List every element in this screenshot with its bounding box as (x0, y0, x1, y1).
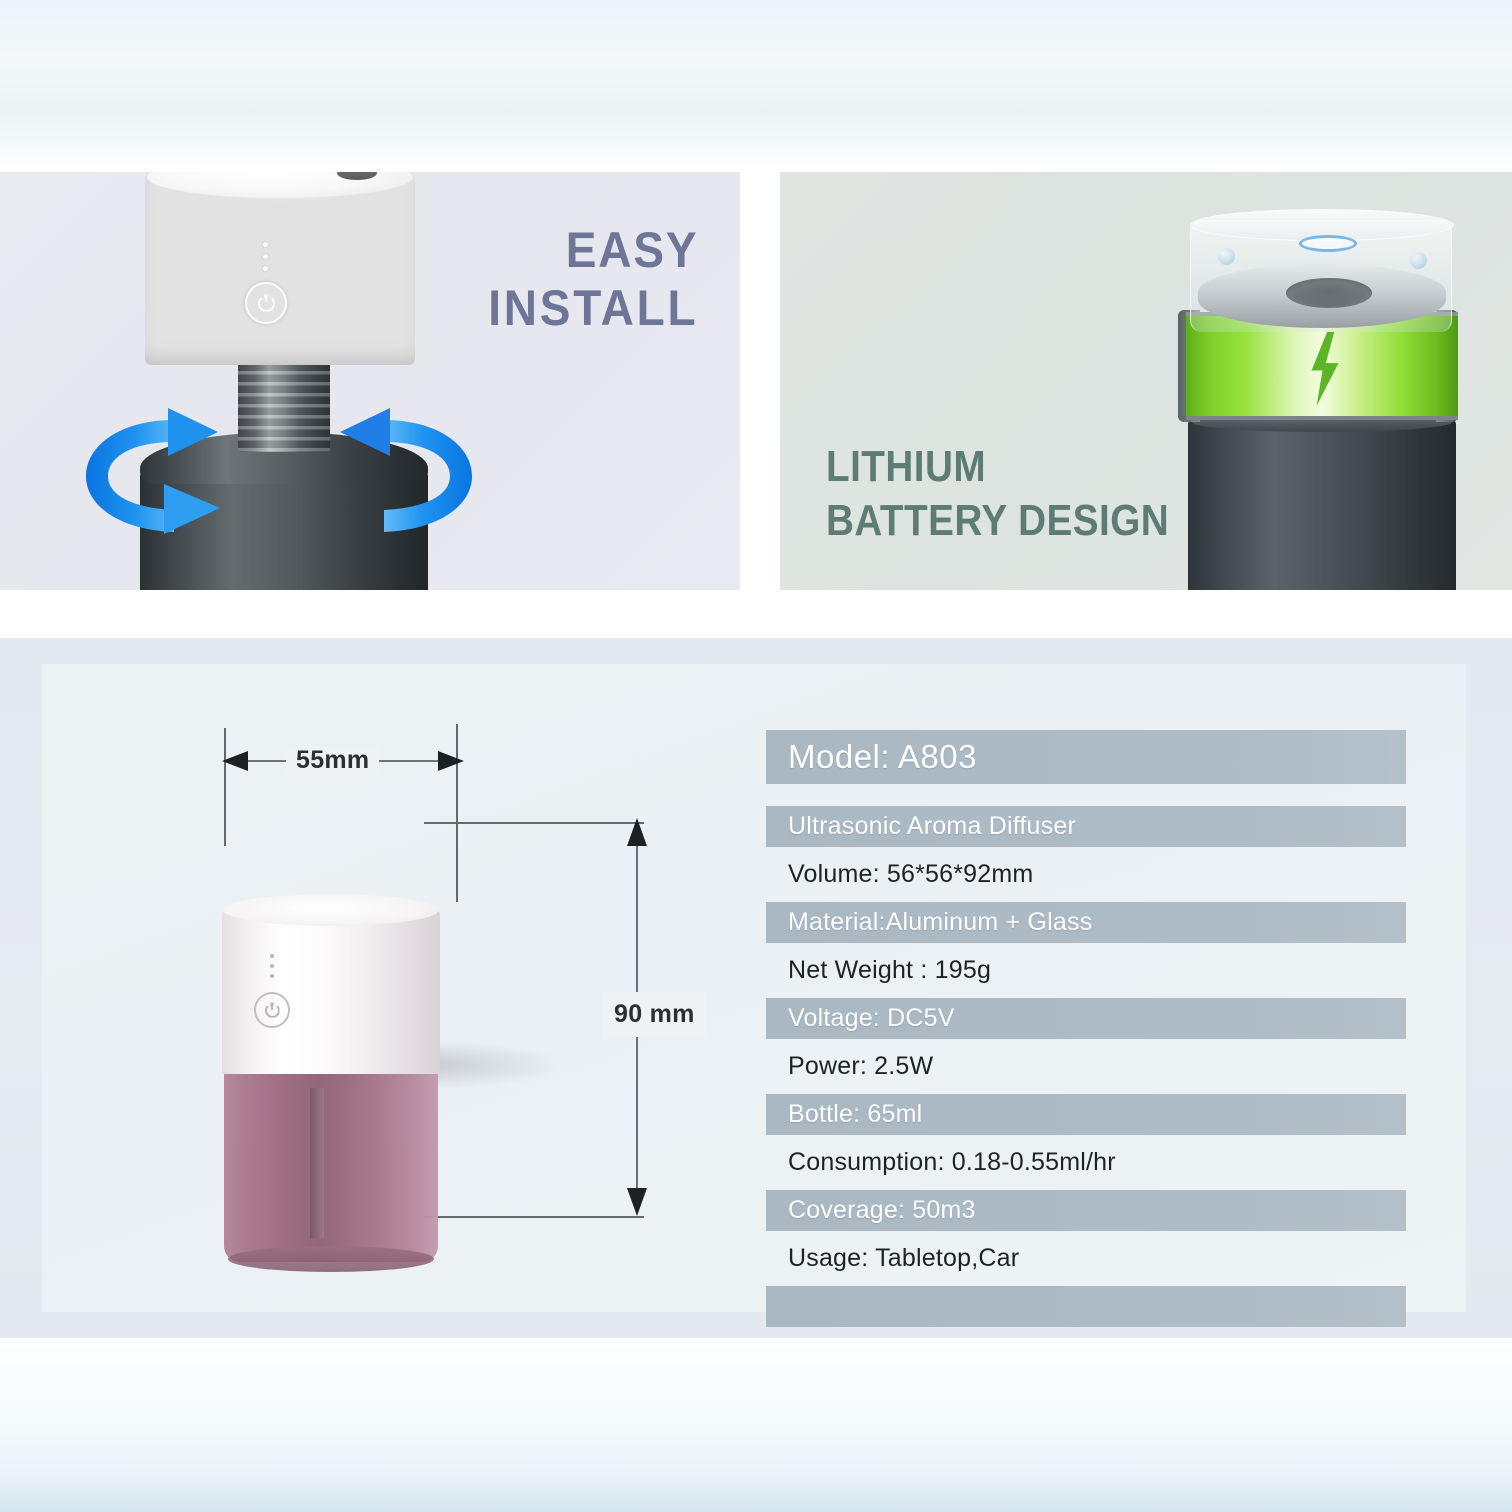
dimension-diagram: 55mm 90 mm (192, 724, 712, 1264)
mist-nozzle-icon (337, 172, 377, 180)
panel-lithium-battery: LITHIUM BATTERY DESIGN (780, 172, 1512, 590)
product-indicator-dots-icon (270, 954, 274, 978)
spec-row: Consumption: 0.18-0.55ml/hr (766, 1142, 1406, 1183)
product-power-icon (254, 992, 290, 1028)
spec-row: Volume: 56*56*92mm (766, 854, 1406, 895)
spec-row-text: Power: 2.5W (766, 1052, 933, 1081)
lightning-bolt-icon (1304, 332, 1346, 406)
spec-section-inner: 55mm 90 mm (42, 664, 1466, 1312)
glass-dome (1190, 220, 1452, 332)
headline-line-1: EASY (488, 222, 698, 280)
spec-row-spacer (766, 1279, 1406, 1286)
spec-row-list: Ultrasonic Aroma DiffuserVolume: 56*56*9… (766, 806, 1406, 1327)
spec-row: Coverage: 50m3 (766, 1190, 1406, 1231)
product-glass-bottle (224, 1072, 438, 1262)
diffuser-cap (145, 172, 415, 365)
spec-row-text: Volume: 56*56*92mm (766, 860, 1033, 889)
spec-row-spacer (766, 895, 1406, 902)
height-dimension-label: 90 mm (602, 992, 707, 1037)
spec-row-text: Material:Aluminum + Glass (766, 908, 1092, 937)
headline-line-2: INSTALL (488, 280, 698, 338)
spec-row: Ultrasonic Aroma Diffuser (766, 806, 1406, 847)
spec-row: Power: 2.5W (766, 1046, 1406, 1087)
lithium-battery-headline: LITHIUM BATTERY DESIGN (826, 440, 1169, 547)
spec-row (766, 1286, 1406, 1327)
spec-row-spacer (766, 943, 1406, 950)
spec-row-spacer (766, 991, 1406, 998)
specification-table: Model: A803 Ultrasonic Aroma DiffuserVol… (766, 730, 1426, 1250)
spec-row-text: Consumption: 0.18-0.55ml/hr (766, 1148, 1116, 1177)
spec-row-spacer (766, 847, 1406, 854)
model-header-gap (766, 784, 1426, 806)
spec-row-spacer (766, 1231, 1406, 1238)
panel-easy-install: EASY INSTALL (0, 172, 740, 590)
led-ring-icon (1299, 235, 1357, 252)
ext-line-top (424, 822, 644, 824)
install-product-illustration (60, 172, 480, 590)
battery-product-illustration (1178, 220, 1478, 590)
spec-row: Voltage: DC5V (766, 998, 1406, 1039)
spec-row: Material:Aluminum + Glass (766, 902, 1406, 943)
spec-row-spacer (766, 1087, 1406, 1094)
power-icon (245, 282, 287, 324)
spec-row-text: Net Weight : 195g (766, 956, 991, 985)
ext-line-bottom (424, 1216, 644, 1218)
spec-row: Usage: Tabletop,Car (766, 1238, 1406, 1279)
headline-line-2: BATTERY DESIGN (826, 494, 1169, 548)
model-header-bar: Model: A803 (766, 730, 1406, 784)
spec-row-text: Ultrasonic Aroma Diffuser (766, 812, 1076, 841)
spec-row-text: Coverage: 50m3 (766, 1196, 976, 1225)
product-cap (222, 906, 440, 1074)
spec-row-text: Usage: Tabletop,Car (766, 1244, 1019, 1273)
width-dimension-label: 55mm (286, 746, 379, 775)
spec-row-text: Bottle: 65ml (766, 1100, 922, 1129)
model-label: Model: A803 (766, 738, 977, 776)
headline-line-1: LITHIUM (826, 440, 1169, 494)
spec-row-text: Voltage: DC5V (766, 1004, 955, 1033)
spec-row: Net Weight : 195g (766, 950, 1406, 991)
spec-row-spacer (766, 1039, 1406, 1046)
top-panels-row: EASY INSTALL LITHIUM BATTERY DESIGN (0, 172, 1512, 590)
spec-section: 55mm 90 mm (0, 638, 1512, 1338)
easy-install-headline: EASY INSTALL (488, 222, 698, 337)
spec-row: Bottle: 65ml (766, 1094, 1406, 1135)
spec-row-spacer (766, 1183, 1406, 1190)
battery-lower-body (1188, 420, 1456, 590)
spec-row-spacer (766, 1135, 1406, 1142)
indicator-dots-icon (263, 242, 268, 271)
product-image (222, 906, 440, 1266)
rotation-arrows-icon (68, 406, 488, 546)
